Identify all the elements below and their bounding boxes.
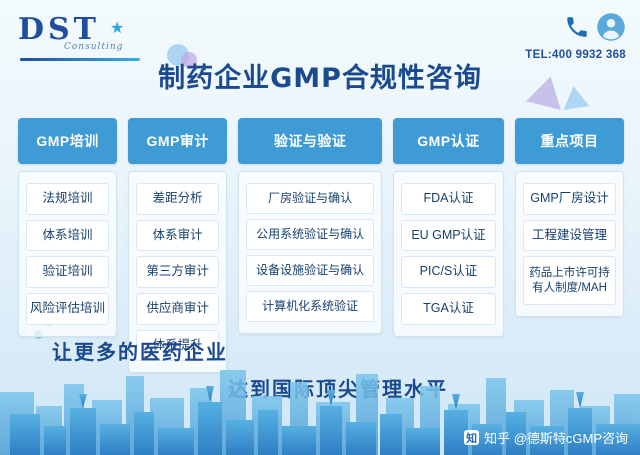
column-body-key-projects: GMP厂房设计 工程建设管理 药品上市许可持有人制度/MAH [515,171,624,317]
list-item[interactable]: EU GMP认证 [401,220,496,252]
list-item[interactable]: 验证培训 [26,256,109,288]
column-body-gmp-certification: FDA认证 EU GMP认证 PIC/S认证 TGA认证 [393,171,504,337]
list-item[interactable]: 第三方审计 [136,256,219,288]
column-header-gmp-training: GMP培训 [18,118,117,164]
list-item[interactable]: 设备设施验证与确认 [246,255,374,286]
column-gmp-certification: GMP认证 FDA认证 EU GMP认证 PIC/S认证 TGA认证 [393,118,504,337]
zhihu-logo-icon: 知 [464,430,479,445]
list-item[interactable]: 差距分析 [136,183,219,215]
list-item[interactable]: 厂房验证与确认 [246,183,374,214]
watermark: 知 知乎 @德斯特cGMP咨询 [464,428,628,447]
column-header-gmp-audit: GMP审计 [128,118,227,164]
contact-block: TEL:400 9932 368 [525,10,626,61]
page-title: 制药企业GMP合规性咨询 [0,56,640,95]
list-item[interactable]: 公用系统验证与确认 [246,219,374,250]
poster-root: DST ★ Consulting TEL:400 9932 368 制药企业GM… [0,0,640,455]
column-header-gmp-certification: GMP认证 [393,118,504,164]
column-key-projects: 重点项目 GMP厂房设计 工程建设管理 药品上市许可持有人制度/MAH [515,118,624,317]
list-item[interactable]: 法规培训 [26,183,109,215]
list-item[interactable]: 计算机化系统验证 [246,291,374,322]
user-avatar-icon [596,12,626,42]
column-header-key-projects: 重点项目 [515,118,624,164]
watermark-text: 知乎 @德斯特cGMP咨询 [484,428,628,447]
column-gmp-audit: GMP审计 差距分析 体系审计 第三方审计 供应商审计 体系提升 [128,118,227,373]
list-item[interactable]: 风险评估培训 [26,293,109,325]
list-item[interactable]: 体系审计 [136,220,219,252]
column-body-verification-validation: 厂房验证与确认 公用系统验证与确认 设备设施验证与确认 计算机化系统验证 [238,171,382,334]
column-verification-validation: 验证与验证 厂房验证与确认 公用系统验证与确认 设备设施验证与确认 计算机化系统… [238,118,382,334]
star-icon: ★ [110,18,124,38]
list-item[interactable]: 供应商审计 [136,293,219,325]
list-item[interactable]: PIC/S认证 [401,256,496,288]
list-item[interactable]: TGA认证 [401,293,496,325]
list-item[interactable]: GMP厂房设计 [523,183,616,215]
column-gmp-training: GMP培训 法规培训 体系培训 验证培训 风险评估培训 [18,118,117,337]
list-item[interactable]: 工程建设管理 [523,220,616,252]
list-item[interactable]: 药品上市许可持有人制度/MAH [523,256,616,305]
column-body-gmp-training: 法规培训 体系培训 验证培训 风险评估培训 [18,171,117,337]
column-header-verification-validation: 验证与验证 [238,118,382,164]
list-item[interactable]: FDA认证 [401,183,496,215]
brand-tagline: Consulting [64,42,168,52]
phone-icon [564,14,590,40]
list-item[interactable]: 体系培训 [26,220,109,252]
contact-icons [525,10,626,44]
service-columns: GMP培训 法规培训 体系培训 验证培训 风险评估培训 GMP审计 差距分析 体… [18,118,624,373]
